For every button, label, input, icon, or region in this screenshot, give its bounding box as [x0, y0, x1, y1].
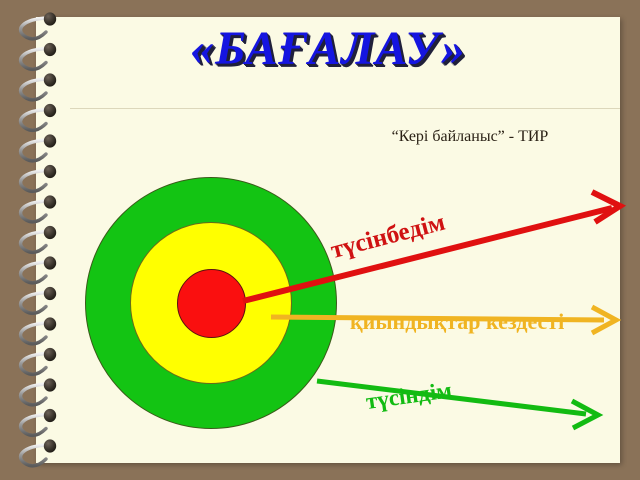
slide-canvas: «БАҒАЛАУ» “Кері байланыс” - ТИР түсінбед… [0, 0, 640, 480]
subtitle-text: “Кері байланыс” - ТИР [330, 128, 610, 146]
title-divider-rule [70, 108, 620, 109]
target-center-ring-red [177, 269, 246, 338]
arrow-label-qiyndyqtar-kezdesti: қиындықтар кездесті [350, 309, 564, 335]
page-title: «БАҒАЛАУ» [36, 21, 620, 76]
